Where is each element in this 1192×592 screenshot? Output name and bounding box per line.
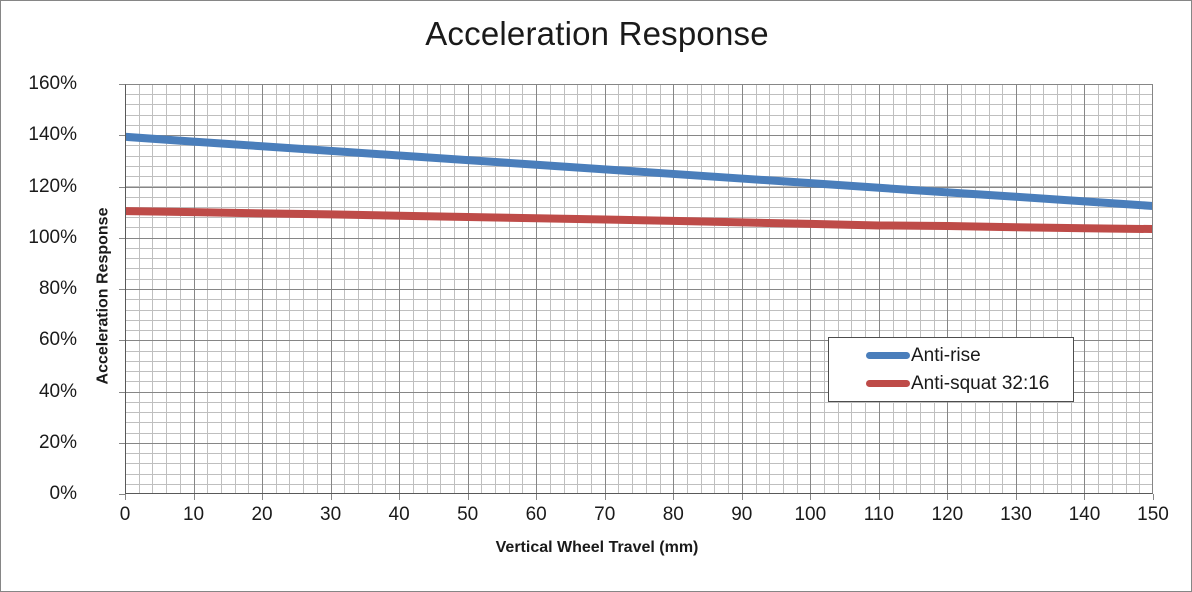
series-line-1 bbox=[125, 211, 1153, 229]
x-axis-title: Vertical Wheel Travel (mm) bbox=[1, 539, 1192, 557]
x-tick-mark bbox=[947, 494, 948, 500]
y-tick-label: 160% bbox=[28, 73, 77, 95]
x-tick-label: 10 bbox=[183, 504, 204, 526]
x-tick-mark bbox=[1084, 494, 1085, 500]
x-tick-mark bbox=[262, 494, 263, 500]
x-tick-mark bbox=[742, 494, 743, 500]
y-tick-label: 120% bbox=[28, 176, 77, 198]
x-tick-label: 30 bbox=[320, 504, 341, 526]
x-tick-mark bbox=[468, 494, 469, 500]
x-tick-label: 140 bbox=[1069, 504, 1101, 526]
x-tick-mark bbox=[399, 494, 400, 500]
y-tick-label: 20% bbox=[39, 432, 77, 454]
x-tick-label: 120 bbox=[932, 504, 964, 526]
x-tick-mark bbox=[331, 494, 332, 500]
x-tick-mark bbox=[605, 494, 606, 500]
x-tick-label: 90 bbox=[731, 504, 752, 526]
y-tick-label: 60% bbox=[39, 329, 77, 351]
x-tick-mark bbox=[194, 494, 195, 500]
x-tick-mark bbox=[1153, 494, 1154, 500]
x-tick-label: 130 bbox=[1000, 504, 1032, 526]
data-series-layer bbox=[125, 84, 1153, 494]
chart-legend[interactable]: Anti-riseAnti-squat 32:16 bbox=[828, 337, 1074, 402]
x-tick-label: 40 bbox=[389, 504, 410, 526]
x-tick-label: 150 bbox=[1137, 504, 1169, 526]
y-axis-title: Acceleration Response bbox=[94, 208, 112, 385]
legend-item-label: Anti-squat 32:16 bbox=[911, 373, 1049, 395]
legend-item[interactable]: Anti-rise bbox=[866, 342, 1073, 370]
legend-item-label: Anti-rise bbox=[911, 345, 981, 367]
x-tick-label: 100 bbox=[794, 504, 826, 526]
x-tick-label: 110 bbox=[864, 504, 894, 526]
legend-item[interactable]: Anti-squat 32:16 bbox=[866, 370, 1073, 398]
x-tick-label: 0 bbox=[120, 504, 131, 526]
chart-container: Acceleration Response Acceleration Respo… bbox=[0, 0, 1192, 592]
y-tick-label: 80% bbox=[39, 278, 77, 300]
x-tick-label: 70 bbox=[594, 504, 615, 526]
y-tick-label: 100% bbox=[28, 227, 77, 249]
x-tick-mark bbox=[1016, 494, 1017, 500]
line-swatch-icon bbox=[866, 352, 910, 359]
x-tick-mark bbox=[125, 494, 126, 500]
x-tick-label: 80 bbox=[663, 504, 684, 526]
y-tick-label: 140% bbox=[28, 124, 77, 146]
x-tick-label: 60 bbox=[526, 504, 547, 526]
x-tick-mark bbox=[673, 494, 674, 500]
x-tick-label: 50 bbox=[457, 504, 478, 526]
y-tick-label: 40% bbox=[39, 381, 77, 403]
line-swatch-icon bbox=[866, 380, 910, 387]
x-tick-mark bbox=[879, 494, 880, 500]
x-tick-mark bbox=[810, 494, 811, 500]
plot-area: Anti-riseAnti-squat 32:16 bbox=[125, 84, 1153, 494]
x-tick-mark bbox=[536, 494, 537, 500]
y-tick-label: 0% bbox=[50, 483, 77, 505]
series-line-0 bbox=[125, 137, 1153, 206]
chart-title: Acceleration Response bbox=[1, 15, 1192, 53]
x-tick-label: 20 bbox=[251, 504, 272, 526]
